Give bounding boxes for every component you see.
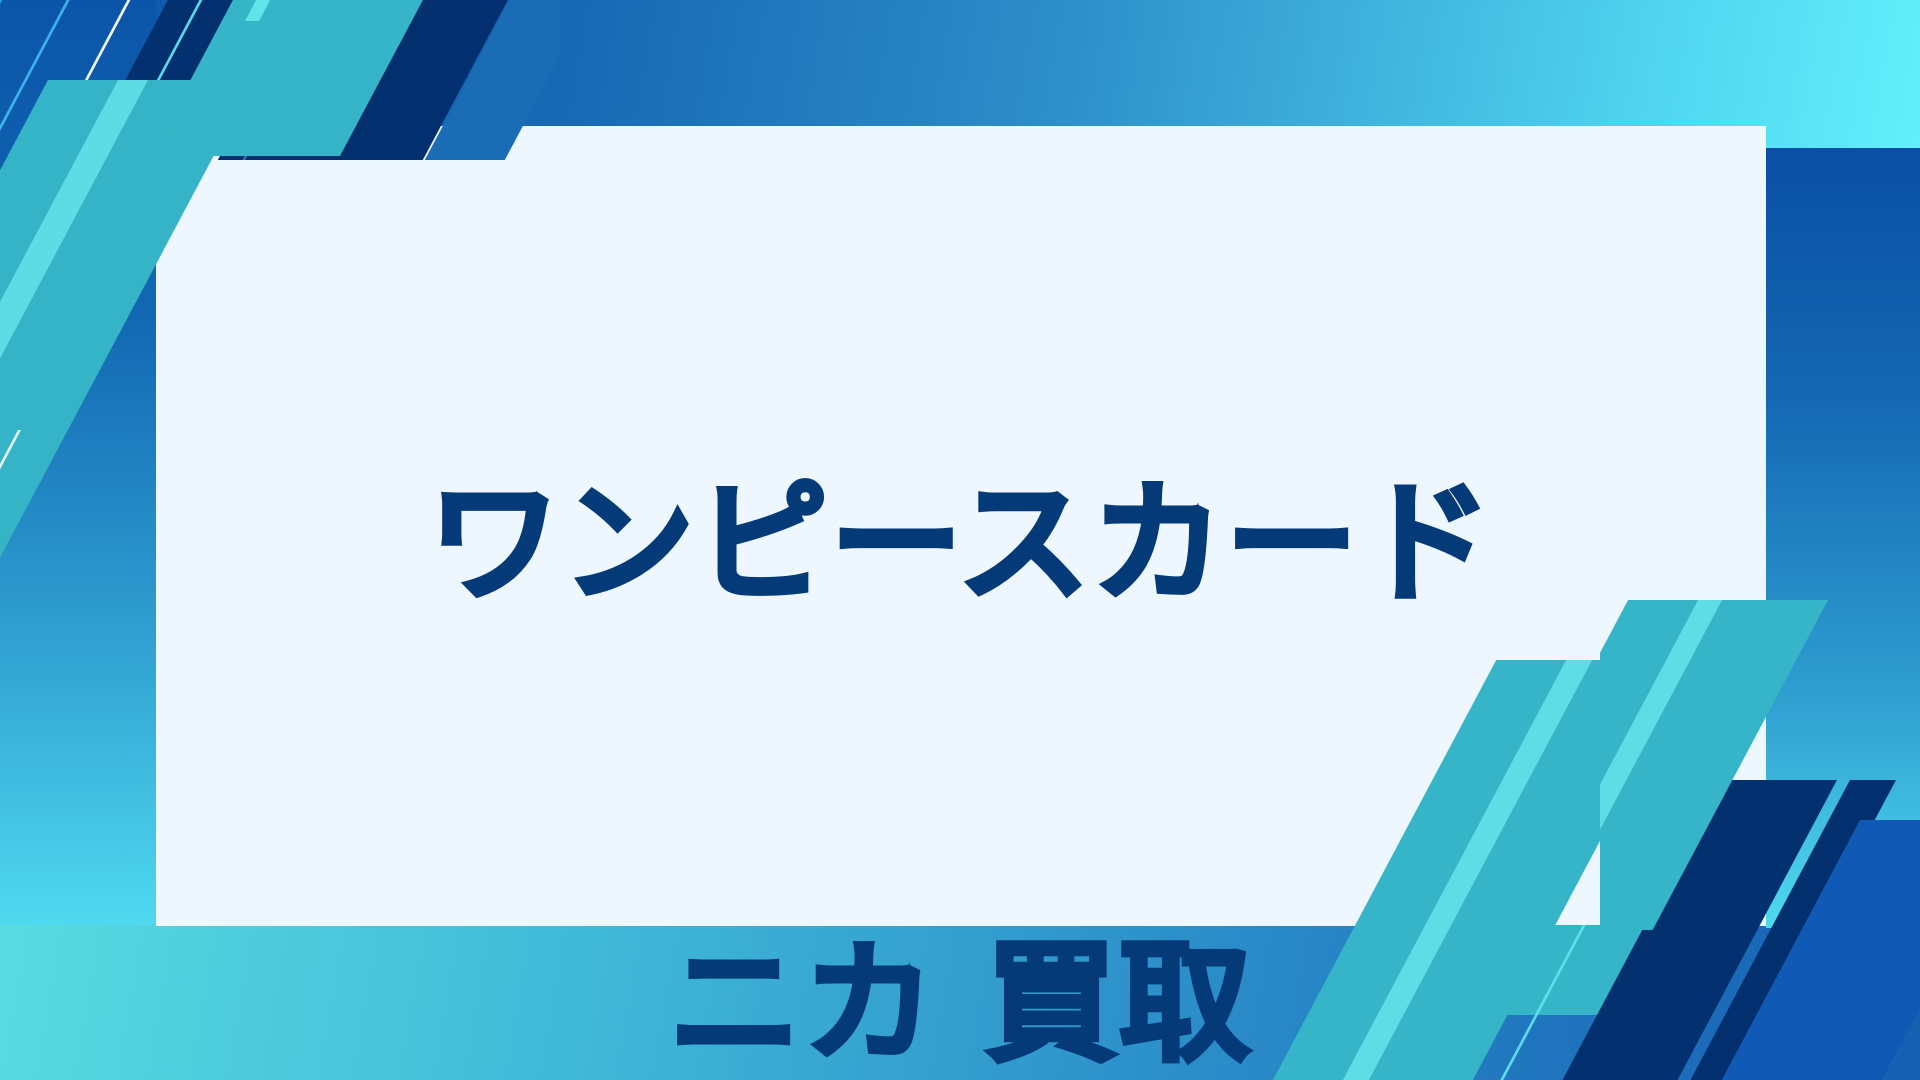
page-title: ワンピースカード ニカ 買取 xyxy=(428,162,1493,1080)
title-line-1: ワンピースカード xyxy=(428,468,1493,621)
thumbnail-canvas: ワンピースカード ニカ 買取 まとめ 買取MEDIUM xyxy=(0,0,1920,1080)
hero-content: ワンピースカード ニカ 買取 まとめ 買取MEDIUM xyxy=(156,126,1766,926)
title-line-2: ニカ 買取 xyxy=(428,928,1493,1080)
